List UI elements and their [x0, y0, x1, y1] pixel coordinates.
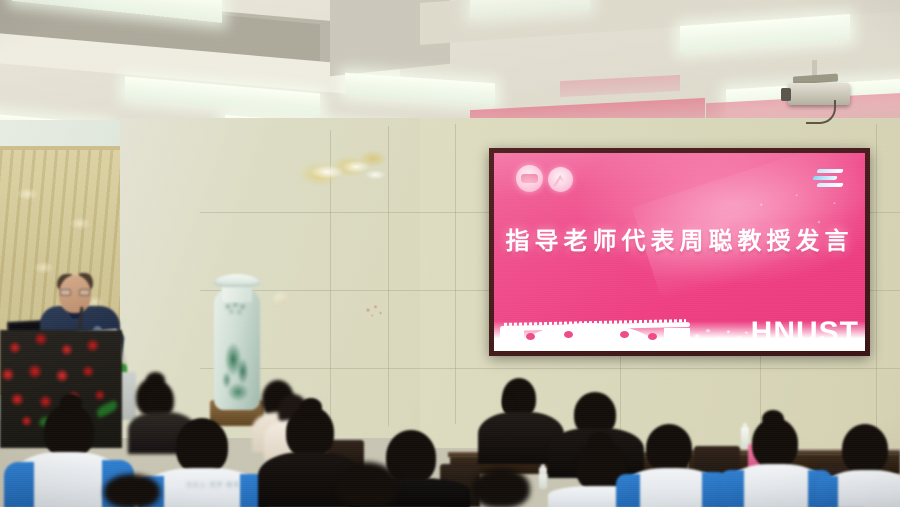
slide-title: 指导老师代表周聪教授发言: [494, 221, 865, 256]
university-emblem-icon: [516, 165, 543, 192]
wall-floral-decoration: [359, 298, 389, 320]
hair-bun: [588, 432, 612, 450]
jersey-sleeve: [4, 462, 34, 507]
hair-bun: [762, 410, 784, 428]
foreground-head: [336, 462, 398, 507]
projector-lens-icon: [781, 88, 791, 101]
foreground-head: [472, 468, 530, 507]
hnust-wordmark: HNUST: [751, 318, 859, 348]
conference-hall-photo: 指导老师代表周聪教授发言 HNUST: [0, 0, 900, 507]
presentation-screen: 指导老师代表周聪教授发言 HNUST: [494, 153, 865, 351]
mountain-emblem-icon: [548, 167, 573, 192]
screen-glow-reflection: [560, 75, 680, 97]
wall-fixture: [274, 293, 288, 305]
petal-scatter-decor: [690, 323, 750, 345]
jersey-sleeve: [720, 470, 744, 507]
cloud-relief-highlight: [300, 150, 390, 190]
vase-calligraphy: [223, 300, 251, 316]
vase-landscape-painting: [218, 318, 258, 404]
ceiling-light-panel: [345, 73, 495, 105]
hair-bun: [300, 398, 322, 416]
hnust-wave-logo-icon: [811, 167, 845, 191]
hair-bun: [60, 394, 82, 412]
water-bottle: [539, 467, 547, 489]
vase-rim: [214, 274, 260, 287]
audience-head: [646, 424, 692, 472]
bridge-silhouette: [500, 313, 690, 341]
jersey-back-text: 志在心 筑梦 教育: [186, 480, 240, 489]
presentation-screen-frame: 指导老师代表周聪教授发言 HNUST: [489, 148, 870, 356]
jersey-sleeve: [616, 474, 640, 507]
hair-bun: [502, 392, 515, 414]
foreground-head: [104, 474, 160, 507]
eyeglasses-icon: [60, 289, 90, 296]
audience-head: [842, 424, 888, 474]
jersey-sleeve: [816, 476, 838, 507]
